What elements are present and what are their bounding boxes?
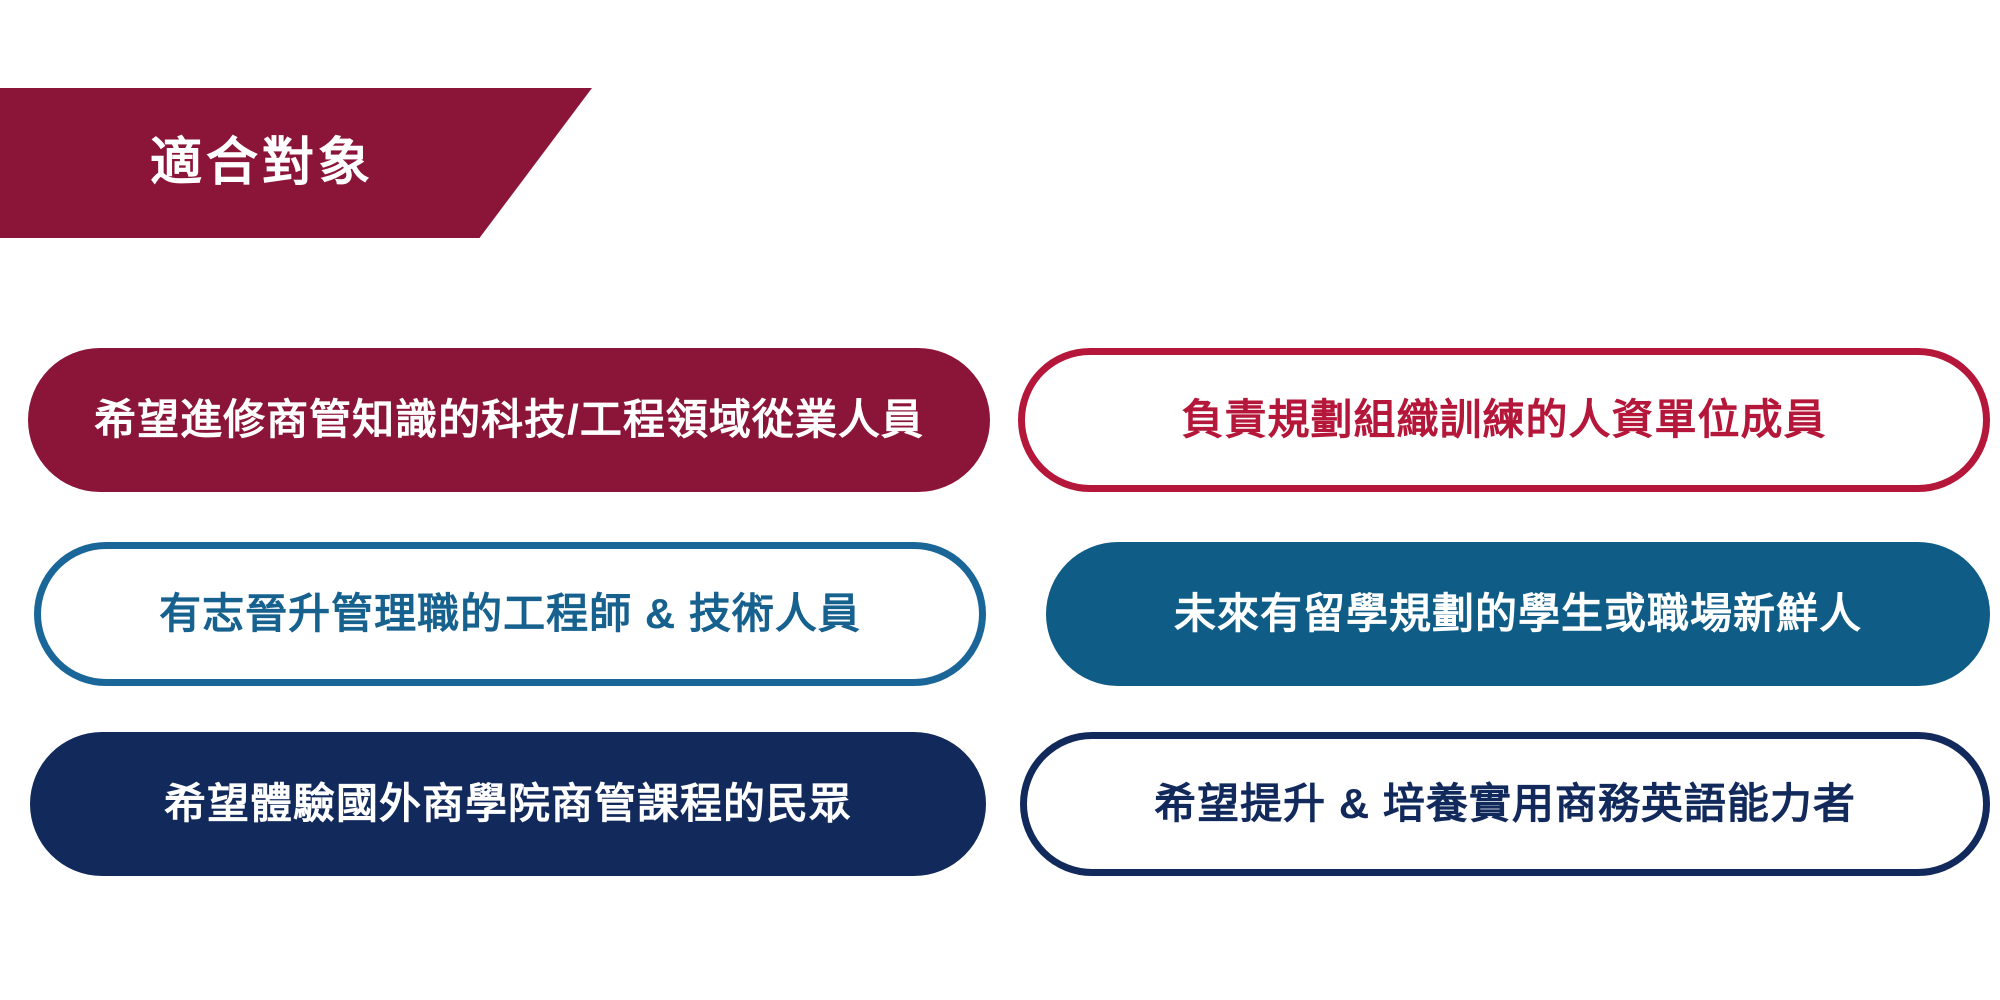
audience-pill-2-label: 負責規劃組織訓練的人資單位成員 bbox=[1181, 399, 1826, 441]
audience-pill-3: 有志晉升管理職的工程師 & 技術人員 bbox=[34, 542, 986, 686]
audience-pill-5-label: 希望體驗國外商學院商管課程的民眾 bbox=[164, 783, 852, 825]
page-title: 適合對象 bbox=[150, 137, 374, 189]
audience-pill-4: 未來有留學規劃的學生或職場新鮮人 bbox=[1046, 542, 1990, 686]
section-header-banner: 適合對象 bbox=[0, 88, 592, 238]
audience-pill-6-label: 希望提升 & 培養實用商務英語能力者 bbox=[1154, 783, 1856, 825]
audience-pill-4-label: 未來有留學規劃的學生或職場新鮮人 bbox=[1174, 593, 1862, 635]
audience-pill-5: 希望體驗國外商學院商管課程的民眾 bbox=[30, 732, 986, 876]
audience-pill-1-label: 希望進修商管知識的科技/工程領域從業人員 bbox=[94, 399, 924, 441]
audience-pill-1: 希望進修商管知識的科技/工程領域從業人員 bbox=[28, 348, 990, 492]
audience-pill-6: 希望提升 & 培養實用商務英語能力者 bbox=[1020, 732, 1990, 876]
audience-pill-3-label: 有志晉升管理職的工程師 & 技術人員 bbox=[159, 593, 861, 635]
audience-pill-2: 負責規劃組織訓練的人資單位成員 bbox=[1018, 348, 1990, 492]
